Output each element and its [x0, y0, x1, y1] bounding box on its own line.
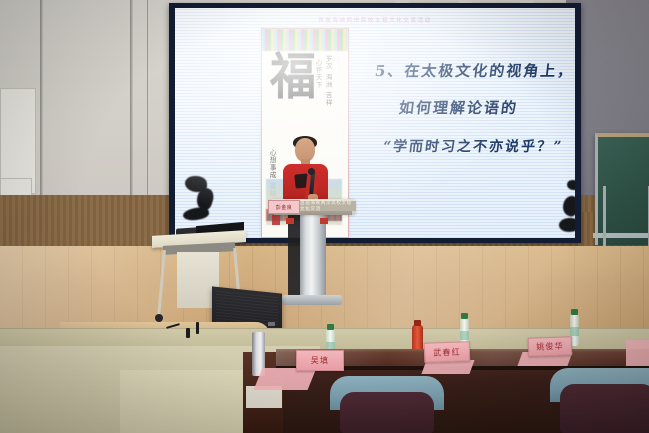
name-card-3-text: 姚俊华 [536, 341, 564, 353]
name-card-2-text: 武春红 [433, 346, 461, 358]
calligraphy-column-2: 心怀天下 [314, 59, 322, 147]
calligraphy-main-glyph: 福 [270, 53, 316, 99]
bottle-cap-icon-1 [327, 324, 334, 330]
side-table-caster-left-icon [155, 314, 163, 322]
bottle-cap-icon-4 [414, 320, 421, 326]
conference-chair-1 [336, 380, 438, 433]
name-card-1: 吴填 [296, 350, 344, 371]
chair-2-back [560, 384, 649, 433]
calligraphy-column-1: 岁次 海洲 吉祥 [324, 55, 332, 145]
microphone-head-icon [308, 168, 315, 175]
podium-nameplate: 彭金良 [268, 200, 300, 214]
speaker-badge-icon [268, 322, 275, 326]
speaker-person [279, 138, 331, 206]
name-card-1-text: 吴填 [311, 355, 329, 366]
ink-blot-icon-6 [558, 217, 575, 234]
podium-nameplate-text: 彭金良 [276, 204, 293, 211]
lecture-hall-photo: 首届海峡两岸高校太极文化交流活动 福 岁次 海洲 吉祥 心怀天下 心想事成 書陽… [0, 0, 649, 433]
podium-banner-text: 首届海峡两岸高校太极文化交流 [300, 200, 356, 212]
slide-header-text: 首届海峡两岸高校太极文化交流活动 [175, 16, 575, 24]
conference-chair-2 [556, 372, 649, 433]
calligraphy-seal-icon [272, 215, 280, 225]
chair-1-back [340, 392, 434, 433]
slide-line-2: 如何理解论语的 [398, 97, 569, 118]
name-card-2: 武春红 [424, 341, 471, 363]
paper-sheet-1 [254, 368, 317, 390]
ink-blot-icon-3 [182, 205, 210, 222]
podium-base-plate [282, 295, 342, 305]
slide-line-3: “学而时习之不亦说乎？” [382, 136, 568, 156]
chalkboard-tray [593, 233, 649, 238]
bottle-cap-icon-2 [461, 313, 468, 319]
mic-stand-post-1 [186, 328, 190, 338]
ink-blot-icon-4 [567, 180, 575, 190]
podium-accent-left [286, 218, 294, 224]
paper-sheet-4 [626, 340, 649, 366]
bottle-label-3 [570, 327, 579, 336]
podium-accent-right [320, 218, 328, 224]
wall-panel-edge-a [147, 0, 148, 205]
mic-stand-post-2 [196, 322, 199, 334]
slide-line-1: 5、在太极文化的视角上， [374, 60, 569, 81]
bottle-cap-icon-3 [571, 309, 578, 315]
name-card-3: 姚俊华 [528, 336, 573, 357]
slide-body-text: 5、在太极文化的视角上， 如何理解论语的 “学而时习之不亦说乎？” [371, 60, 567, 156]
projection-screen-surface: 首届海峡两岸高校太极文化交流活动 福 岁次 海洲 吉祥 心怀天下 心想事成 書陽… [175, 8, 575, 238]
bottle-label-2 [460, 331, 469, 340]
ink-blot-icon-5 [560, 194, 575, 219]
podium-banner: 首届海峡两岸高校太极文化交流 [300, 201, 356, 211]
